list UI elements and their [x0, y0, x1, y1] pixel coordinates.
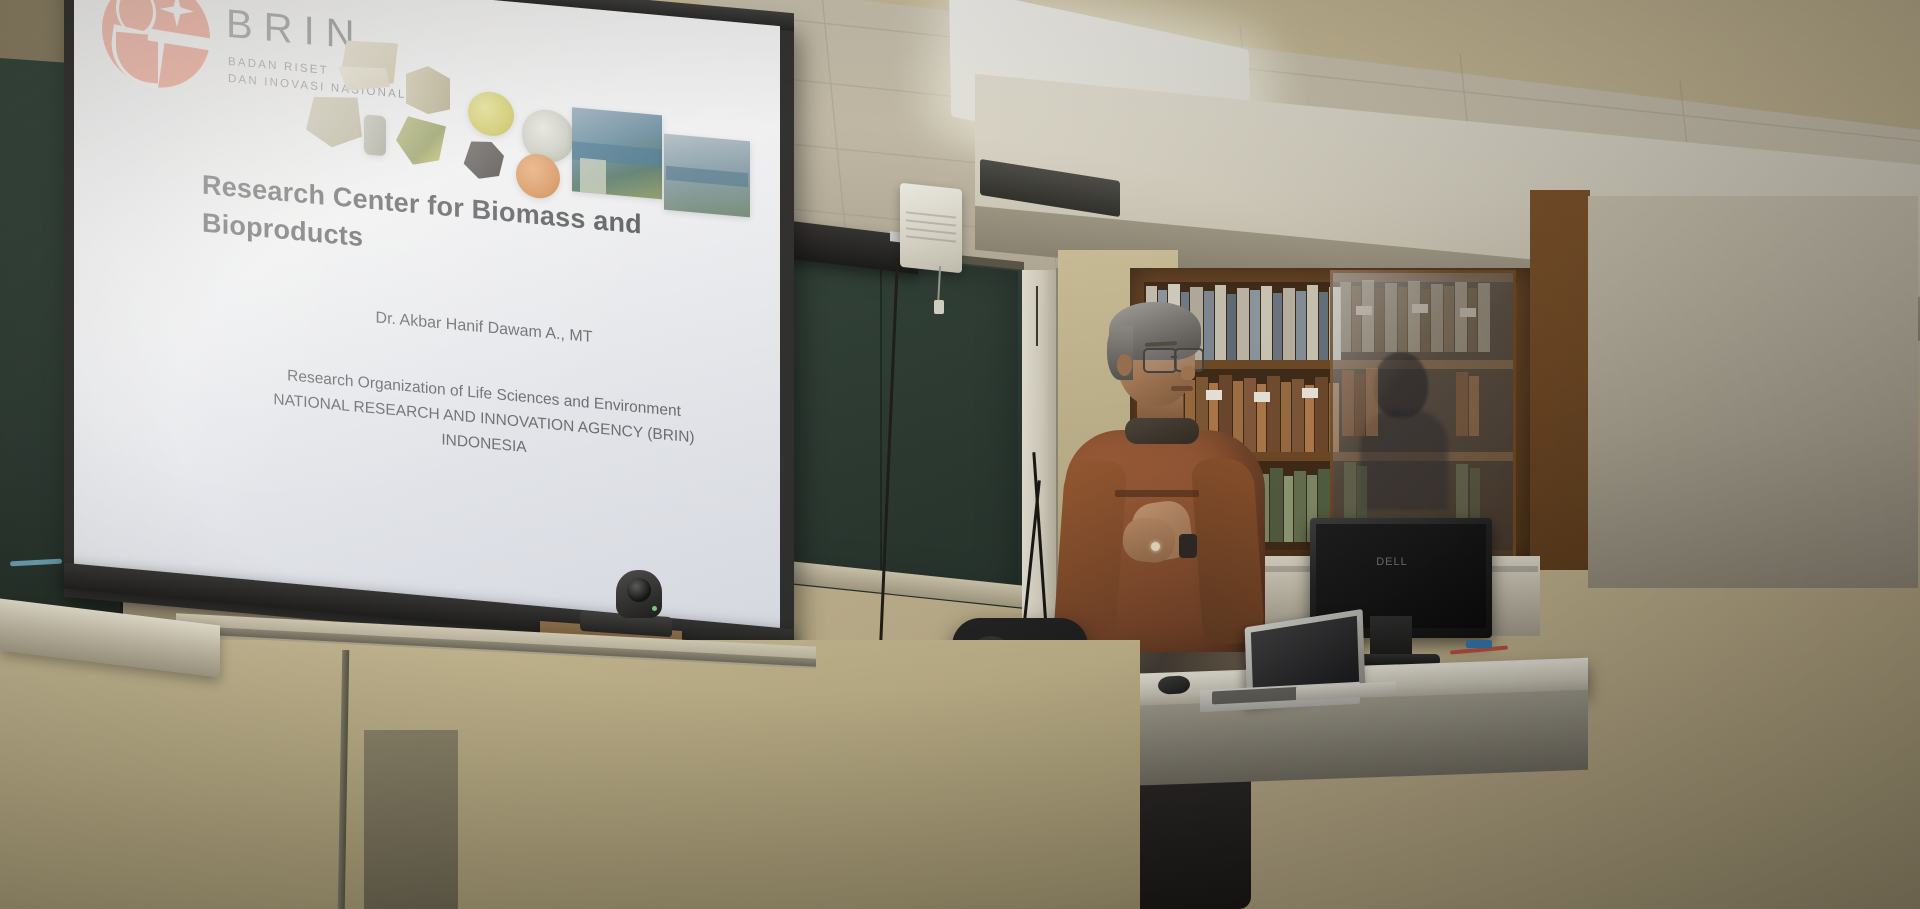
presenter-collar	[1125, 418, 1199, 444]
ac-plug	[934, 300, 944, 314]
sweater-chest-print	[1115, 490, 1199, 497]
sample-photo-green-sample	[396, 115, 446, 168]
presenter-ear	[1117, 354, 1132, 376]
sample-photo-grey-sheet	[306, 93, 362, 150]
slide-presenter-name: Dr. Akbar Hanif Dawam A., MT	[274, 300, 694, 356]
right-wood-cabinet	[1530, 190, 1590, 570]
camera-status-led	[652, 606, 657, 611]
presentation-slide: BRIN BADAN RISET DAN INOVASI NASIONAL Re…	[74, 0, 780, 644]
projection-screen: BRIN BADAN RISET DAN INOVASI NASIONAL Re…	[74, 0, 780, 644]
lower-wall	[0, 640, 1140, 909]
presenter-ring	[1151, 542, 1160, 551]
brin-wordmark: BRIN	[226, 2, 366, 60]
presenter-wristwatch	[1179, 534, 1197, 558]
wall-cable	[1036, 286, 1038, 346]
camera-lens-icon	[627, 578, 651, 602]
presenter-right-sleeve	[1191, 456, 1266, 646]
presenter-mouth	[1171, 386, 1193, 391]
chalkboard-seam	[880, 255, 882, 585]
eyeglasses-bridge	[1171, 356, 1177, 358]
sample-photo-building-1-detail	[580, 158, 606, 194]
slide-organization-block: Research Organization of Life Sciences a…	[214, 357, 754, 481]
brin-logo	[102, 0, 214, 97]
sample-photo-dark-lump	[462, 139, 504, 181]
chalkboard-center-surface	[768, 245, 1018, 601]
sample-photo-small-cylinder	[364, 114, 386, 156]
sample-photo-block	[406, 64, 450, 116]
right-wall-panel	[1588, 196, 1918, 588]
desk-front-panel	[1118, 690, 1588, 786]
floor-box	[364, 730, 458, 909]
sample-photo-yellow-disc	[468, 90, 514, 138]
classroom-photo: BRIN BADAN RISET DAN INOVASI NASIONAL Re…	[0, 0, 1920, 909]
eyeglasses-icon	[1143, 348, 1177, 373]
blue-usb-connector	[1466, 640, 1492, 648]
monitor-brand-label: DELL	[1374, 556, 1410, 568]
presenter-nose	[1181, 366, 1195, 380]
